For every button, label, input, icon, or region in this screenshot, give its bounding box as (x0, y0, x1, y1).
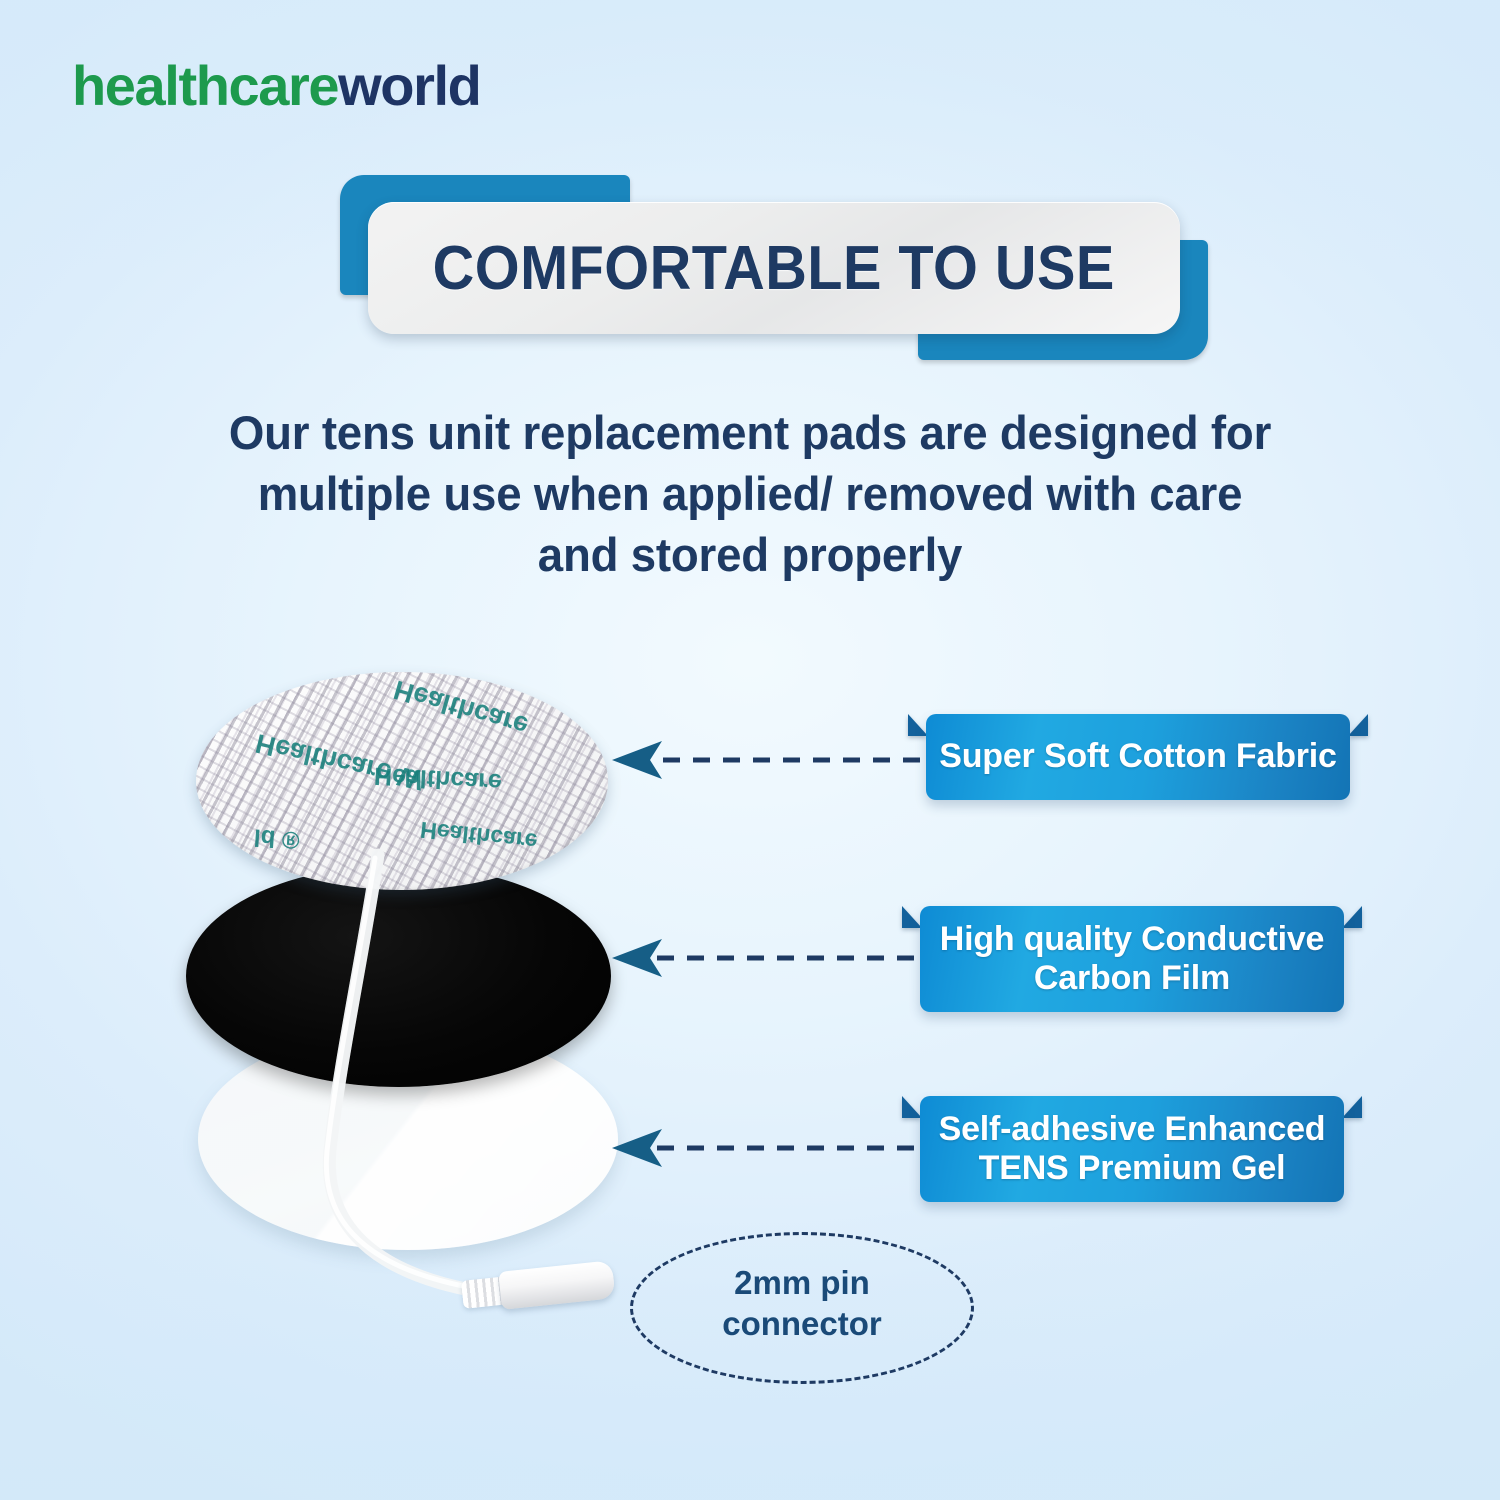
ribbon-fold-left-icon (902, 1082, 922, 1118)
ribbon-label-line-1: High quality Conductive (940, 920, 1325, 959)
arrow-head-premium-gel (612, 1129, 662, 1167)
ribbon-label-line-1: Super Soft Cotton Fabric (939, 737, 1337, 776)
callout-label-line-1: 2mm pin (630, 1262, 974, 1303)
ribbon-fold-right-icon (1348, 700, 1368, 736)
ribbon-body: Super Soft Cotton Fabric (926, 714, 1350, 800)
ribbon-body: High quality Conductive Carbon Film (920, 906, 1344, 1012)
ribbon-body: Self-adhesive Enhanced TENS Premium Gel (920, 1096, 1344, 1202)
ribbon-label: Self-adhesive Enhanced TENS Premium Gel (939, 1110, 1326, 1189)
callout-label: 2mm pin connector (630, 1262, 974, 1345)
callout-label-line-2: connector (630, 1303, 974, 1344)
arrow-head-carbon-film (612, 939, 662, 977)
ribbon-fold-right-icon (1342, 892, 1362, 928)
feature-ribbon-cotton-fabric: Super Soft Cotton Fabric (908, 714, 1368, 800)
ribbon-fold-left-icon (908, 700, 928, 736)
ribbon-fold-right-icon (1342, 1082, 1362, 1118)
ribbon-label-line-1: Self-adhesive Enhanced (939, 1110, 1326, 1149)
ribbon-label: High quality Conductive Carbon Film (940, 920, 1325, 999)
ribbon-label-line-2: TENS Premium Gel (939, 1149, 1326, 1188)
ribbon-fold-left-icon (902, 892, 922, 928)
feature-ribbon-premium-gel: Self-adhesive Enhanced TENS Premium Gel (902, 1096, 1362, 1202)
pin-connector-callout: 2mm pin connector (630, 1232, 974, 1384)
arrow-head-cotton-fabric (612, 741, 662, 779)
ribbon-label-line-2: Carbon Film (940, 959, 1325, 998)
ribbon-label: Super Soft Cotton Fabric (939, 737, 1337, 776)
feature-ribbon-carbon-film: High quality Conductive Carbon Film (902, 906, 1362, 1012)
